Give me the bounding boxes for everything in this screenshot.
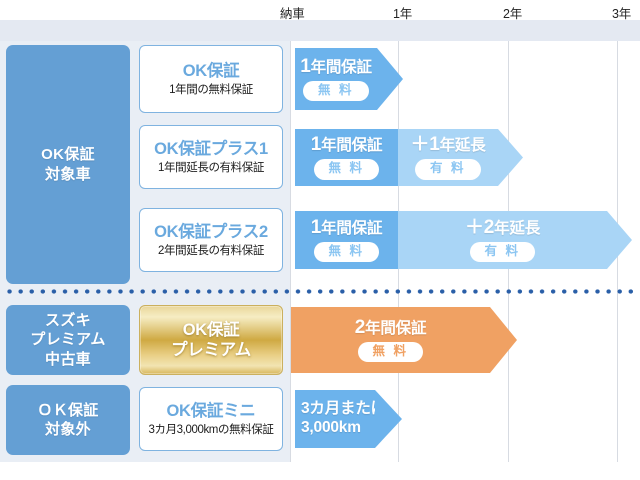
category-chip-ok-target[interactable]: OK保証 対象車 [6,45,130,284]
segment-free-year-1: 1年間保証 無 料 [295,48,377,110]
plan-box-ok-hosho-premium[interactable]: OK保証 プレミアム [139,305,283,375]
plan-title-line1: OK保証 [183,320,240,340]
segment-title: 1年間保証 [311,218,383,237]
segment-title: ＋1年延長 [410,135,485,154]
category-label-line2: プレミアム [30,330,105,349]
bar-ok-hosho-plus2: 1年間保証 無 料 ＋2年延長 有 料 [295,211,632,269]
segment-badge-free: 無 料 [303,81,369,102]
segment-paid-extension-2y: ＋2年延長 有 料 [398,211,607,269]
category-label-line3: 中古車 [30,350,105,369]
arrow-head-icon [375,390,402,448]
timeline-header-band [0,20,640,41]
arrow-head-icon [607,211,632,269]
category-chip-suzuki-premium[interactable]: スズキ プレミアム 中古車 [6,305,130,375]
plan-title: OK保証プラス1 [154,140,268,158]
bar-ok-hosho-premium: 2年間保証 無 料 [291,307,517,373]
segment-title-line2: 3,000km [301,419,361,438]
segment-badge-free: 無 料 [358,342,424,363]
plan-box-ok-hosho-plus1[interactable]: OK保証プラス1 1年間延長の有料保証 [139,125,283,189]
category-chip-ok-excluded[interactable]: ＯＫ保証 対象外 [6,385,130,455]
tick-label-year-2: 2年 [503,3,522,22]
tick-label-year-3: 3年 [612,3,631,22]
segment-free-year-1: 1年間保証 無 料 [295,211,398,269]
plan-title: OK保証ミニ [167,402,256,420]
plan-box-ok-hosho-plus2[interactable]: OK保証プラス2 2年間延長の有料保証 [139,208,283,272]
segment-title: 2年間保証 [355,318,427,337]
plan-box-ok-hosho-mini[interactable]: OK保証ミニ 3カ月3,000kmの無料保証 [139,387,283,451]
bar-ok-hosho: 1年間保証 無 料 [295,48,403,110]
plan-subtitle: 1年間延長の有料保証 [158,162,264,175]
segment-title: ＋2年延長 [465,218,540,237]
segment-title: 1年間保証 [300,57,372,76]
segment-badge-free: 無 料 [314,159,380,180]
segment-3months-3000km: 3カ月または 3,000km [295,390,375,448]
arrow-head-icon [490,307,517,373]
bar-ok-hosho-mini: 3カ月または 3,000km [295,390,402,448]
arrow-head-icon [377,48,403,110]
plan-subtitle: 2年間延長の有料保証 [158,245,264,258]
category-label-line2: 対象外 [37,420,98,439]
tick-label-delivery: 納車 [280,3,305,22]
arrow-head-icon [498,129,523,186]
plan-title: OK保証プラス2 [154,223,268,241]
section-divider [4,289,638,294]
segment-title-line1: 3カ月または [301,400,386,419]
category-label-line2: 対象車 [41,165,95,184]
top-margin [0,0,640,20]
segment-free-2years: 2年間保証 無 料 [291,307,490,373]
plan-box-ok-hosho[interactable]: OK保証 1年間の無料保証 [139,45,283,113]
plan-subtitle: 3カ月3,000kmの無料保証 [148,424,273,437]
segment-badge-paid: 有 料 [415,159,481,180]
segment-badge-paid: 有 料 [470,242,536,263]
plan-title-line2: プレミアム [171,340,251,360]
category-label-line1: スズキ [30,311,105,330]
plan-title: OK保証 [183,62,240,80]
bottom-margin [0,462,640,480]
category-label-line1: ＯＫ保証 [37,401,98,420]
segment-paid-extension-1y: ＋1年延長 有 料 [398,129,498,186]
segment-badge-free: 無 料 [314,242,380,263]
tick-label-year-1: 1年 [393,3,412,22]
bar-ok-hosho-plus1: 1年間保証 無 料 ＋1年延長 有 料 [295,129,523,186]
gridline-delivery [290,41,291,462]
warranty-comparison-chart: 納車 1年 2年 3年 OK保証 対象車 OK保証 1年間の無料保証 1年間保証… [0,0,640,480]
segment-title: 1年間保証 [311,135,383,154]
segment-free-year-1: 1年間保証 無 料 [295,129,398,186]
category-label-line1: OK保証 [41,145,95,164]
plan-subtitle: 1年間の無料保証 [169,84,253,97]
